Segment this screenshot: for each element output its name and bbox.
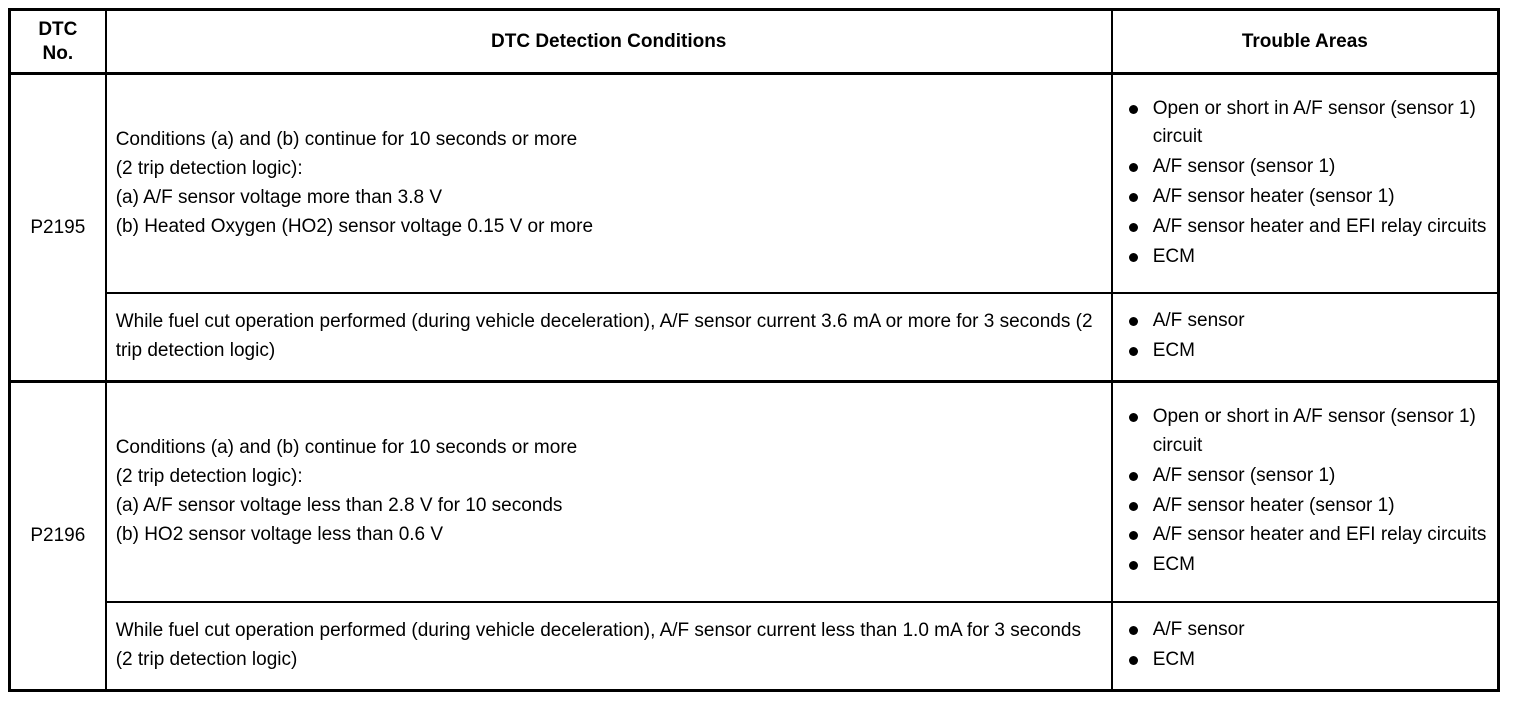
condition-line: Conditions (a) and (b) continue for 10 s… (116, 126, 1103, 155)
list-item-label: A/F sensor (sensor 1) (1153, 465, 1336, 486)
list-item-label: A/F sensor (1153, 619, 1245, 640)
condition-line: (2 trip detection logic): (116, 463, 1103, 492)
list-item-label: Open or short in A/F sensor (sensor 1) c… (1153, 98, 1476, 148)
trouble-areas-list: A/F sensor ECM (1123, 616, 1491, 675)
bullet-icon (1129, 502, 1138, 511)
trouble-areas-cell: Open or short in A/F sensor (sensor 1) c… (1112, 74, 1499, 294)
table-body: P2195 Conditions (a) and (b) continue fo… (10, 74, 1499, 691)
list-item-label: A/F sensor (1153, 310, 1245, 331)
header-row: DTC No. DTC Detection Conditions Trouble… (10, 10, 1499, 74)
list-item: A/F sensor (sensor 1) (1123, 462, 1491, 491)
table-row: While fuel cut operation performed (duri… (10, 602, 1499, 691)
list-item-label: ECM (1153, 340, 1195, 361)
condition-line: (a) A/F sensor voltage more than 3.8 V (116, 184, 1103, 213)
list-item-label: ECM (1153, 649, 1195, 670)
dtc-detection-table: DTC No. DTC Detection Conditions Trouble… (8, 8, 1500, 692)
dtc-number-cell: P2195 (10, 74, 106, 382)
list-item: ECM (1123, 243, 1491, 272)
bullet-icon (1129, 656, 1138, 665)
condition-line: (b) Heated Oxygen (HO2) sensor voltage 0… (116, 213, 1103, 242)
list-item: ECM (1123, 551, 1491, 580)
condition-line: (2 trip detection logic): (116, 155, 1103, 184)
list-item: A/F sensor (1123, 307, 1491, 336)
trouble-areas-cell: Open or short in A/F sensor (sensor 1) c… (1112, 382, 1499, 602)
bullet-icon (1129, 413, 1138, 422)
table-row: P2195 Conditions (a) and (b) continue fo… (10, 74, 1499, 294)
bullet-icon (1129, 347, 1138, 356)
bullet-icon (1129, 561, 1138, 570)
condition-line: (b) HO2 sensor voltage less than 0.6 V (116, 521, 1103, 550)
bullet-icon (1129, 472, 1138, 481)
bullet-icon (1129, 253, 1138, 262)
bullet-icon (1129, 105, 1138, 114)
bullet-icon (1129, 531, 1138, 540)
bullet-icon (1129, 223, 1138, 232)
trouble-areas-list: Open or short in A/F sensor (sensor 1) c… (1123, 403, 1491, 580)
dtc-number-cell: P2196 (10, 382, 106, 691)
list-item-label: A/F sensor heater (sensor 1) (1153, 186, 1395, 207)
header-dtc-detection-conditions: DTC Detection Conditions (106, 10, 1112, 74)
condition-line: Conditions (a) and (b) continue for 10 s… (116, 434, 1103, 463)
list-item: ECM (1123, 646, 1491, 675)
bullet-icon (1129, 193, 1138, 202)
list-item-label: A/F sensor heater (sensor 1) (1153, 495, 1395, 516)
document-page: DTC No. DTC Detection Conditions Trouble… (0, 0, 1520, 702)
table-row: While fuel cut operation performed (duri… (10, 293, 1499, 382)
list-item: A/F sensor heater (sensor 1) (1123, 492, 1491, 521)
condition-line: (a) A/F sensor voltage less than 2.8 V f… (116, 492, 1103, 521)
table-header: DTC No. DTC Detection Conditions Trouble… (10, 10, 1499, 74)
header-trouble-areas: Trouble Areas (1112, 10, 1499, 74)
condition-line: While fuel cut operation performed (duri… (116, 308, 1103, 366)
detection-conditions-cell: Conditions (a) and (b) continue for 10 s… (106, 382, 1112, 602)
trouble-areas-list: Open or short in A/F sensor (sensor 1) c… (1123, 95, 1491, 272)
list-item: A/F sensor (sensor 1) (1123, 153, 1491, 182)
table-row: P2196 Conditions (a) and (b) continue fo… (10, 382, 1499, 602)
list-item-label: ECM (1153, 246, 1195, 267)
list-item-label: ECM (1153, 554, 1195, 575)
list-item-label: A/F sensor (sensor 1) (1153, 156, 1336, 177)
trouble-areas-list: A/F sensor ECM (1123, 307, 1491, 366)
trouble-areas-cell: A/F sensor ECM (1112, 602, 1499, 691)
bullet-icon (1129, 626, 1138, 635)
header-dtc-no-line2: No. (43, 43, 74, 64)
list-item: Open or short in A/F sensor (sensor 1) c… (1123, 95, 1491, 153)
header-dtc-no-line1: DTC (38, 19, 77, 40)
detection-conditions-cell: Conditions (a) and (b) continue for 10 s… (106, 74, 1112, 294)
list-item: A/F sensor heater and EFI relay circuits (1123, 521, 1491, 550)
header-dtc-no: DTC No. (10, 10, 106, 74)
list-item: Open or short in A/F sensor (sensor 1) c… (1123, 403, 1491, 461)
list-item-label: A/F sensor heater and EFI relay circuits (1153, 524, 1487, 545)
condition-line: While fuel cut operation performed (duri… (116, 617, 1103, 675)
list-item: ECM (1123, 337, 1491, 366)
list-item-label: A/F sensor heater and EFI relay circuits (1153, 216, 1487, 237)
list-item-label: Open or short in A/F sensor (sensor 1) c… (1153, 406, 1476, 456)
trouble-areas-cell: A/F sensor ECM (1112, 293, 1499, 382)
list-item: A/F sensor (1123, 616, 1491, 645)
list-item: A/F sensor heater (sensor 1) (1123, 183, 1491, 212)
detection-conditions-cell: While fuel cut operation performed (duri… (106, 293, 1112, 382)
bullet-icon (1129, 317, 1138, 326)
bullet-icon (1129, 163, 1138, 172)
detection-conditions-cell: While fuel cut operation performed (duri… (106, 602, 1112, 691)
list-item: A/F sensor heater and EFI relay circuits (1123, 213, 1491, 242)
